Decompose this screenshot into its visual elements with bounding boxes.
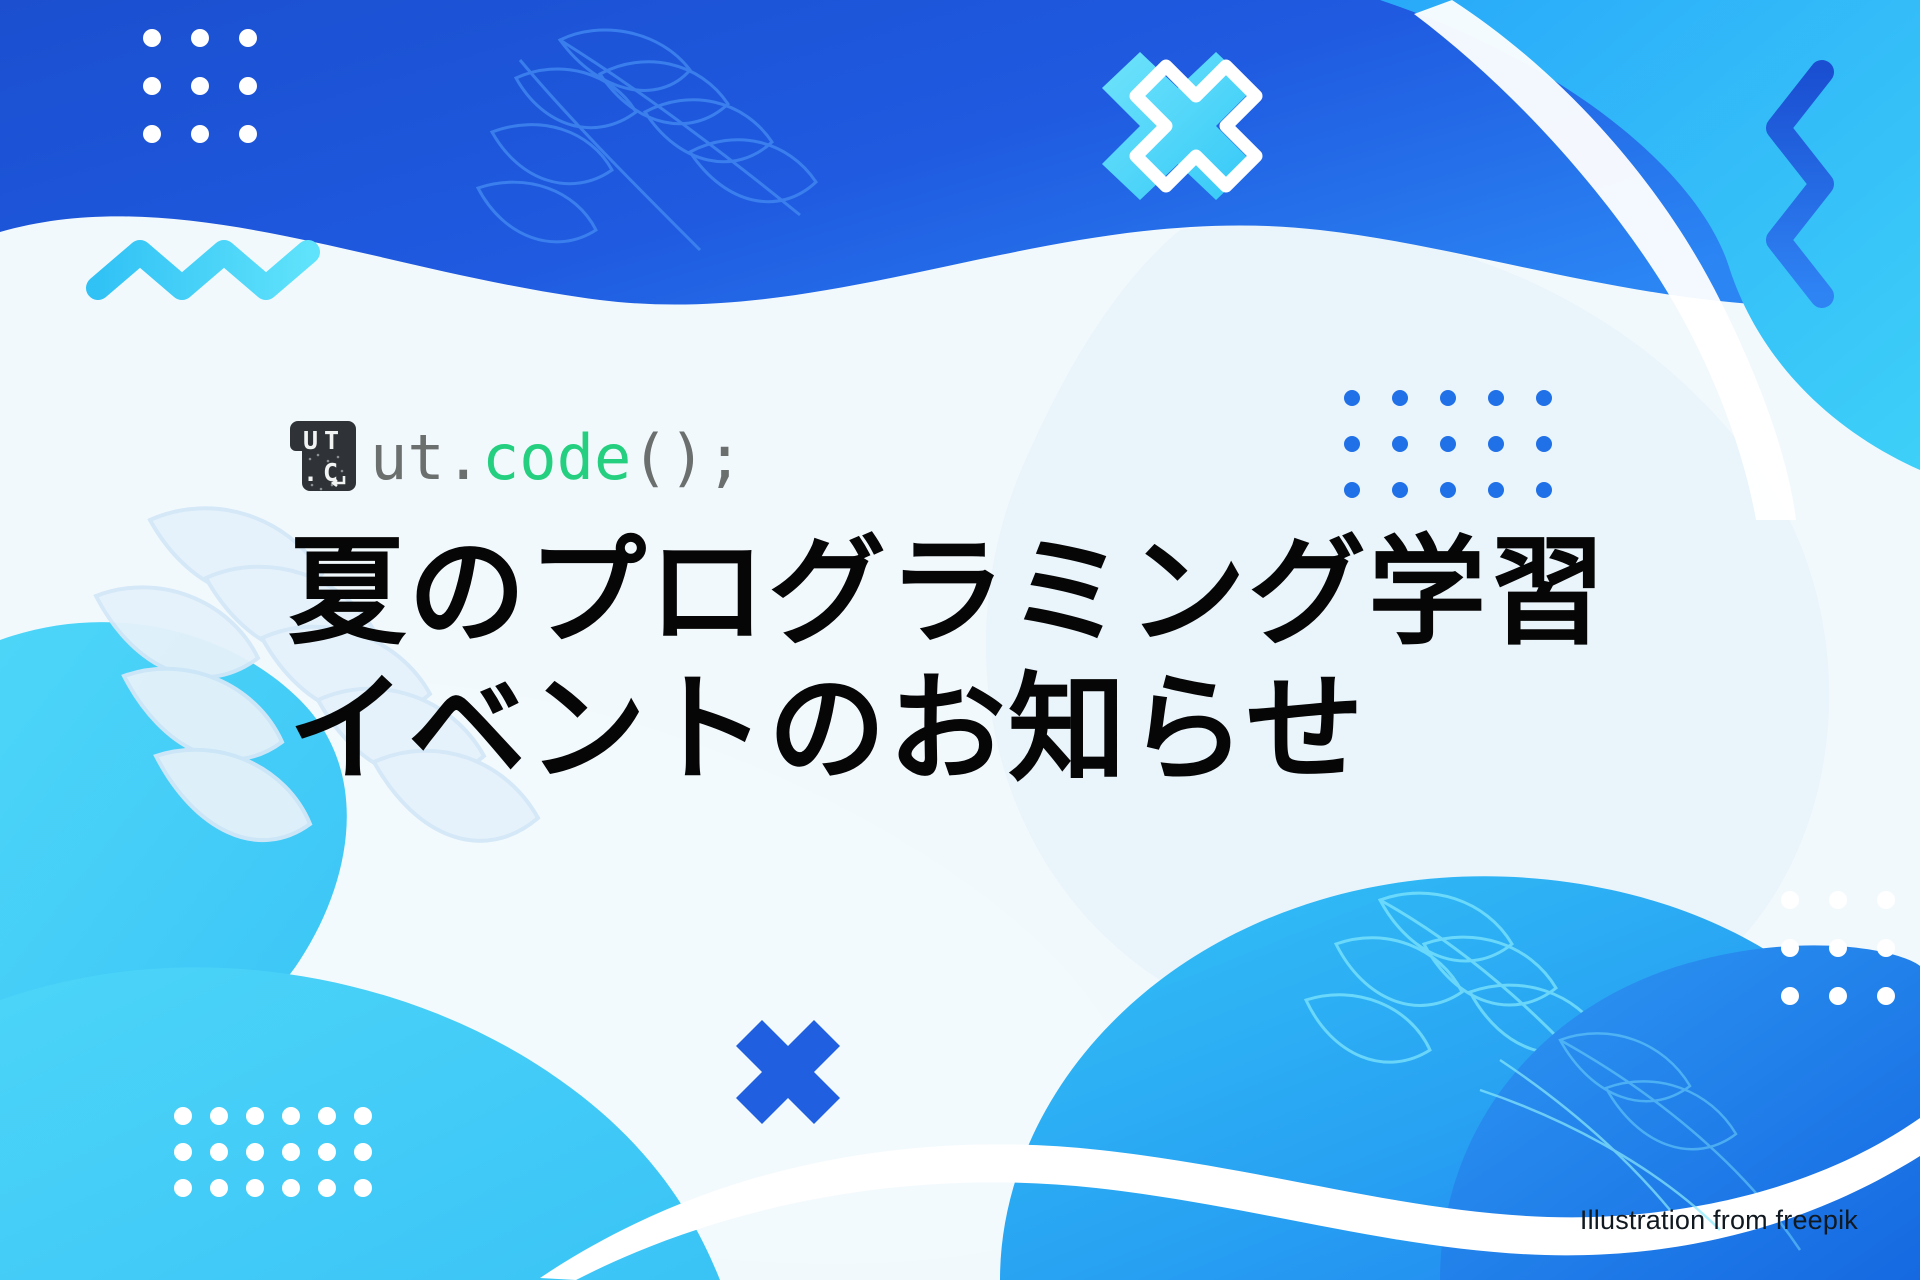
page-title: 夏のプログラミング学習 イベントのお知らせ xyxy=(288,524,1608,798)
ut-code-logo-mark-icon: U T . C xyxy=(288,419,356,497)
logo-letter-u: U xyxy=(303,426,318,455)
logo-letter-t: T xyxy=(324,426,339,455)
wordmark-prefix: ut. xyxy=(370,427,482,489)
wordmark-accent: code xyxy=(482,427,631,489)
wordmark-suffix: (); xyxy=(631,427,743,489)
page-title-line-1: 夏のプログラミング学習 xyxy=(288,524,1608,661)
brand-wordmark: ut.code(); xyxy=(370,427,743,489)
illustration-credit: Illustration from freepik xyxy=(1580,1205,1858,1236)
banner-content: U T . C ut.code(); xyxy=(288,418,1608,798)
banner-canvas: U T . C ut.code(); xyxy=(0,0,1920,1280)
page-title-line-2: イベントのお知らせ xyxy=(288,661,1608,798)
brand-logo: U T . C ut.code(); xyxy=(288,418,1608,498)
logo-letter-dot: . xyxy=(303,458,318,487)
